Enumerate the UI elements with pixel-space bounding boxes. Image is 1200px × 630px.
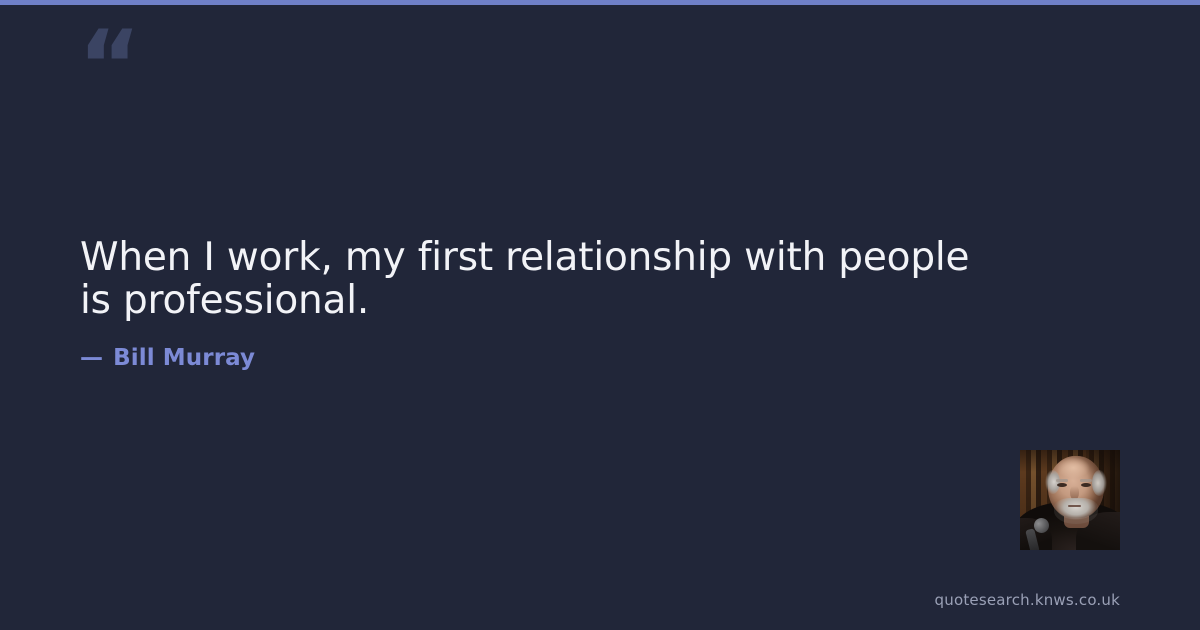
- portrait-hair-left: [1045, 470, 1060, 494]
- site-url-label: quotesearch.knws.co.uk: [935, 590, 1120, 610]
- portrait-beard: [1054, 498, 1098, 524]
- top-accent-bar: [0, 0, 1200, 5]
- quote-attribution: — Bill Murray: [80, 343, 255, 373]
- quote-body: When I work, my first relationship with …: [80, 236, 1000, 322]
- portrait-eye-right: [1081, 483, 1091, 487]
- quote-card: “ When I work, my first relationship wit…: [0, 0, 1200, 630]
- attribution-dash: —: [80, 345, 105, 371]
- attribution-author: Bill Murray: [113, 345, 255, 371]
- portrait-eye-left: [1057, 483, 1067, 487]
- author-portrait-image: [1020, 450, 1120, 550]
- portrait-forehead: [1054, 457, 1096, 481]
- portrait-mouth: [1068, 505, 1081, 507]
- quote-text: When I work, my first relationship with …: [80, 236, 1000, 322]
- portrait-hair-right: [1092, 470, 1107, 496]
- portrait-eyebrow-left: [1056, 479, 1068, 482]
- opening-quotation-mark-icon: “: [78, 18, 139, 114]
- portrait-eyebrow-right: [1080, 479, 1092, 482]
